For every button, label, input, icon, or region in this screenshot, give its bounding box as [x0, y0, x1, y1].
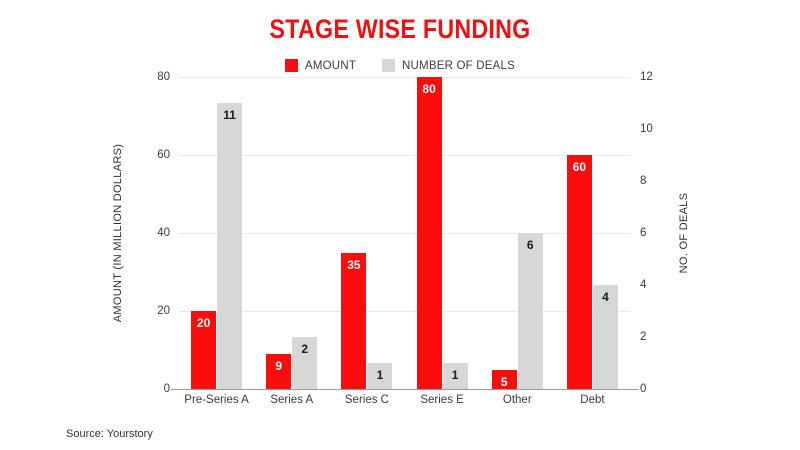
chart-legend: AMOUNT NUMBER OF DEALS: [0, 59, 800, 72]
source-note: Source: Yourstory: [66, 428, 153, 440]
bar-value-label: 60: [573, 161, 586, 173]
y-axis-tick-label: 0: [164, 383, 170, 395]
bar-number-of-deals[interactable]: 4: [593, 285, 618, 389]
y2-axis-tick-label: 10: [640, 123, 653, 135]
bar-groups: 20119235180156604: [179, 77, 630, 389]
x-axis-category-label: Series C: [329, 394, 404, 406]
bar-amount[interactable]: 60: [567, 155, 592, 389]
y-axis-tick-label: 40: [157, 227, 170, 239]
bar-amount[interactable]: 20: [191, 311, 216, 389]
y-axis-tick-label: 20: [157, 305, 170, 317]
y2-axis-tick-label: 6: [640, 227, 646, 239]
y2-axis-tick-label: 2: [640, 331, 646, 343]
bar-amount[interactable]: 9: [266, 354, 291, 389]
x-axis-category-label: Other: [480, 394, 555, 406]
bar-group: 604: [555, 77, 630, 389]
x-axis-category-label: Series A: [254, 394, 329, 406]
legend-label-number-of-deals: NUMBER OF DEALS: [402, 60, 515, 72]
x-axis-category-label: Pre-Series A: [179, 394, 254, 406]
bar-group: 2011: [179, 77, 254, 389]
legend-label-amount: AMOUNT: [305, 60, 356, 72]
bar-value-label: 9: [275, 360, 282, 372]
legend-item-number-of-deals[interactable]: NUMBER OF DEALS: [382, 59, 515, 72]
bar-number-of-deals[interactable]: 1: [367, 363, 392, 389]
legend-item-amount[interactable]: AMOUNT: [285, 59, 356, 72]
bar-value-label: 2: [301, 343, 308, 355]
bar-number-of-deals[interactable]: 1: [443, 363, 468, 389]
bar-amount[interactable]: 5: [492, 370, 517, 390]
y2-axis-tick-label: 0: [640, 383, 646, 395]
bar-value-label: 1: [452, 369, 459, 381]
x-axis-category-label: Series E: [405, 394, 480, 406]
bar-value-label: 80: [422, 83, 435, 95]
bar-value-label: 11: [223, 109, 236, 121]
bar-number-of-deals[interactable]: 2: [292, 337, 317, 389]
y-axis-tick-label: 60: [157, 149, 170, 161]
x-axis-category-label: Debt: [555, 394, 630, 406]
bar-group: 801: [405, 77, 480, 389]
bar-value-label: 35: [347, 259, 360, 271]
bar-group: 56: [480, 77, 555, 389]
y2-axis-tick-label: 12: [640, 71, 653, 83]
plot-area: 020406080 024681012 20119235180156604: [179, 77, 630, 389]
y-axis-tick-label: 80: [157, 71, 170, 83]
bar-group: 92: [254, 77, 329, 389]
bar-amount[interactable]: 35: [341, 253, 366, 390]
y-axis-title: AMOUNT (IN MILLION DOLLARS): [112, 144, 124, 322]
y2-axis-title: NO. OF DEALS: [678, 193, 690, 274]
bar-value-label: 6: [527, 239, 534, 251]
x-axis-category-labels: Pre-Series ASeries ASeries CSeries EOthe…: [179, 394, 630, 406]
bar-value-label: 4: [602, 291, 609, 303]
x-axis-line: [171, 389, 638, 390]
bar-amount[interactable]: 80: [417, 77, 442, 389]
bar-group: 351: [329, 77, 404, 389]
chart-page: STAGE WISE FUNDING AMOUNT NUMBER OF DEAL…: [0, 0, 800, 450]
bar-number-of-deals[interactable]: 11: [217, 103, 242, 389]
bar-value-label: 5: [501, 376, 508, 388]
bar-number-of-deals[interactable]: 6: [518, 233, 543, 389]
y2-axis-tick-label: 4: [640, 279, 646, 291]
y2-axis-tick-label: 8: [640, 175, 646, 187]
chart-title: STAGE WISE FUNDING: [56, 14, 744, 45]
legend-swatch-number-of-deals: [382, 59, 395, 72]
bar-value-label: 1: [377, 369, 384, 381]
legend-swatch-amount: [285, 59, 298, 72]
bar-value-label: 20: [197, 317, 210, 329]
